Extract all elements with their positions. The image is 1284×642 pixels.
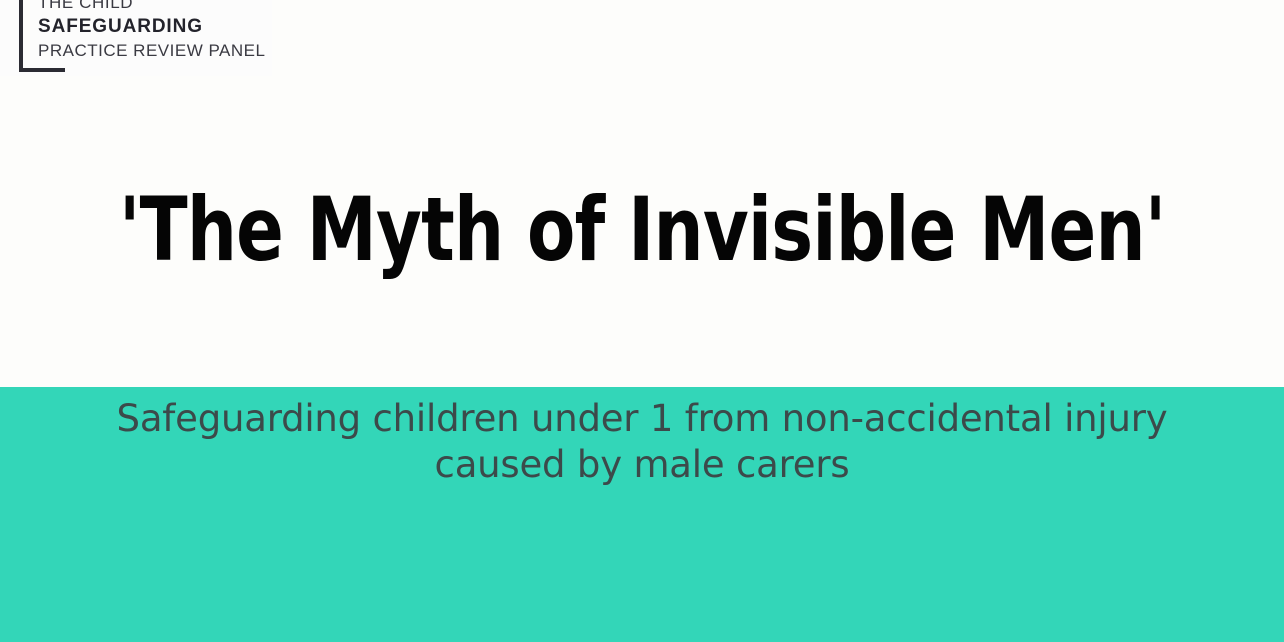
logo-line-the-child: THE CHILD [38, 0, 270, 14]
logo-bracket-foot-icon [19, 68, 65, 72]
logo-line-practice-review-panel: PRACTICE REVIEW PANEL [38, 39, 270, 63]
logo-block: THE CHILD SAFEGUARDING PRACTICE REVIEW P… [0, 0, 272, 76]
logo-line-safeguarding: SAFEGUARDING [38, 14, 270, 39]
accent-band: Safeguarding children under 1 from non-a… [0, 387, 1284, 642]
title-area: 'The Myth of Invisible Men' [0, 160, 1284, 300]
page-subtitle: Safeguarding children under 1 from non-a… [0, 396, 1284, 488]
logo-text: THE CHILD SAFEGUARDING PRACTICE REVIEW P… [38, 0, 270, 63]
page-title: 'The Myth of Invisible Men' [119, 180, 1166, 280]
logo-bracket-vertical-icon [19, 0, 23, 72]
title-slide: THE CHILD SAFEGUARDING PRACTICE REVIEW P… [0, 0, 1284, 642]
